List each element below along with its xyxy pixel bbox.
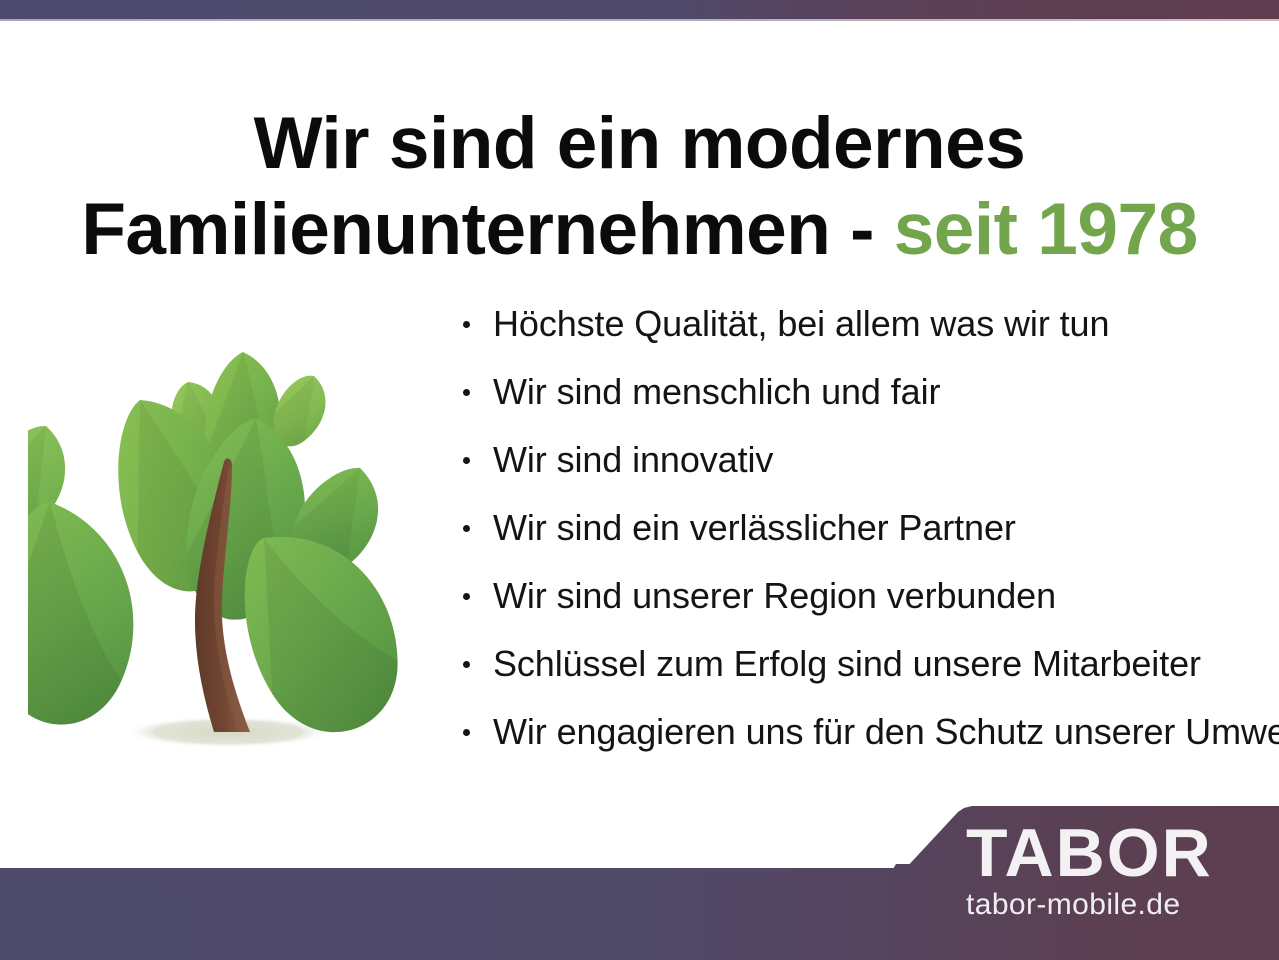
list-item: Wir sind ein verlässlicher Partner xyxy=(458,504,1268,551)
top-accent-bar-hairline xyxy=(0,19,1279,21)
top-accent-bar xyxy=(0,0,1279,19)
list-item: Höchste Qualität, bei allem was wir tun xyxy=(458,300,1268,347)
slide-canvas: Wir sind ein modernes Familienunternehme… xyxy=(0,0,1279,960)
list-item: Wir sind menschlich und fair xyxy=(458,368,1268,415)
tree-illustration xyxy=(28,330,443,760)
leaf-bottom-right xyxy=(238,525,405,740)
brand-wordmark: TABOR xyxy=(966,820,1266,886)
list-item: Wir engagieren uns für den Schutz unsere… xyxy=(458,708,1268,755)
page-title-line-2: Familienunternehmen - seit 1978 xyxy=(0,187,1279,273)
brand-website-tagline: tabor-mobile.de xyxy=(966,888,1266,922)
page-title-line-1: Wir sind ein modernes xyxy=(254,103,1026,184)
page-title: Wir sind ein modernes Familienunternehme… xyxy=(0,101,1279,273)
page-title-accent-year: seit 1978 xyxy=(894,189,1198,270)
brand-logo: TABOR tabor-mobile.de xyxy=(966,820,1266,940)
list-item: Schlüssel zum Erfolg sind unsere Mitarbe… xyxy=(458,640,1268,687)
page-title-line-2-main: Familienunternehmen - xyxy=(81,189,893,270)
value-proposition-list: Höchste Qualität, bei allem was wir tun … xyxy=(458,300,1268,776)
list-item: Wir sind unserer Region verbunden xyxy=(458,572,1268,619)
list-item: Wir sind innovativ xyxy=(458,436,1268,483)
